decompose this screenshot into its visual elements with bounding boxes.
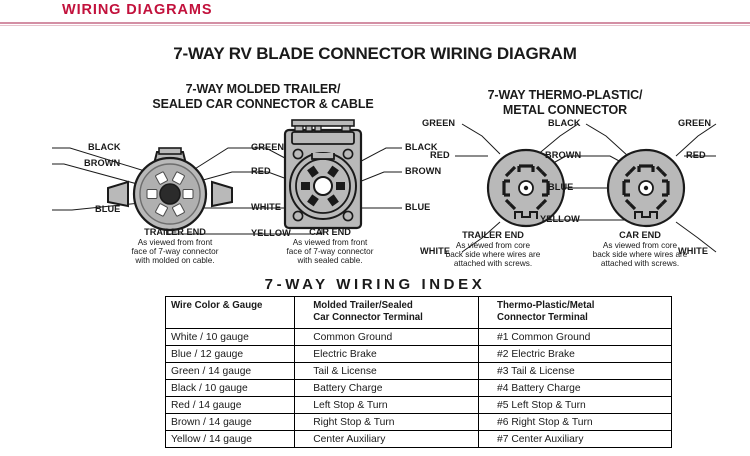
page-title: 7-WAY RV BLADE CONNECTOR WIRING DIAGRAM <box>0 44 750 64</box>
caption-sealed-car-title: CAR END <box>265 228 395 237</box>
label-tp-trailer-brown: BROWN <box>545 150 581 160</box>
caption-molded-trailer-line3: with molded on cable. <box>135 256 214 265</box>
caption-tp-car-title: CAR END <box>565 231 715 240</box>
table-row: Red / 14 gauge Left Stop & Turn #5 Left … <box>166 397 672 414</box>
cell-thermo: #3 Tail & License <box>479 363 672 380</box>
cell-molded: Right Stop & Turn <box>295 414 479 431</box>
index-title: 7-WAY WIRING INDEX <box>0 276 750 293</box>
section-title-molded-line1: 7-WAY MOLDED TRAILER/ <box>186 82 341 96</box>
caption-tp-trailer-end: TRAILER END As viewed from core back sid… <box>418 231 568 268</box>
caption-tp-trailer-title: TRAILER END <box>418 231 568 240</box>
cell-molded: Electric Brake <box>295 346 479 363</box>
section-title-molded-line2: SEALED CAR CONNECTOR & CABLE <box>152 97 373 111</box>
section-title-thermoplastic-line1: 7-WAY THERMO-PLASTIC/ <box>488 88 643 102</box>
cell-thermo: #4 Battery Charge <box>479 380 672 397</box>
cell-wire: Brown / 14 gauge <box>166 414 295 431</box>
caption-sealed-car-line1: As viewed from front <box>293 238 368 247</box>
cell-molded: Common Ground <box>295 329 479 346</box>
caption-sealed-car-end: CAR END As viewed from front face of 7-w… <box>265 228 395 265</box>
caption-sealed-car-line2: face of 7-way connector <box>287 247 374 256</box>
wiring-diagram-page: WIRING DIAGRAMS 7-WAY RV BLADE CONNECTOR… <box>0 0 750 456</box>
label-molded-trailer-black: BLACK <box>88 142 121 152</box>
column-header-wire-color: Wire Color & Gauge <box>166 297 295 329</box>
table-header-row: Wire Color & Gauge Molded Trailer/Sealed… <box>166 297 672 329</box>
caption-tp-car-line2: back side where wires are <box>593 250 688 259</box>
label-tp-trailer-yellow: YELLOW <box>540 214 580 224</box>
table-row: Blue / 12 gauge Electric Brake #2 Electr… <box>166 346 672 363</box>
cell-wire: Blue / 12 gauge <box>166 346 295 363</box>
label-sealed-car-blue: BLUE <box>405 202 430 212</box>
cell-thermo: #7 Center Auxiliary <box>479 431 672 448</box>
table-row: White / 10 gauge Common Ground #1 Common… <box>166 329 672 346</box>
caption-molded-trailer-line1: As viewed from front <box>138 238 213 247</box>
cell-molded: Center Auxiliary <box>295 431 479 448</box>
label-molded-trailer-blue: BLUE <box>95 204 120 214</box>
cell-wire: White / 10 gauge <box>166 329 295 346</box>
label-molded-trailer-red: RED <box>251 166 271 176</box>
wiring-index-table: Wire Color & Gauge Molded Trailer/Sealed… <box>165 296 672 448</box>
label-tp-trailer-red: RED <box>430 150 450 160</box>
label-tp-car-red: RED <box>686 150 706 160</box>
cell-molded: Tail & License <box>295 363 479 380</box>
label-tp-trailer-black: BLACK <box>548 118 581 128</box>
table-row: Green / 14 gauge Tail & License #3 Tail … <box>166 363 672 380</box>
cell-thermo: #6 Right Stop & Turn <box>479 414 672 431</box>
caption-tp-car-line1: As viewed from core <box>603 241 677 250</box>
column-header-molded: Molded Trailer/Sealed Car Connector Term… <box>295 297 479 329</box>
header-title: WIRING DIAGRAMS <box>62 2 212 18</box>
caption-tp-trailer-line2: back side where wires are <box>446 250 541 259</box>
cell-thermo: #5 Left Stop & Turn <box>479 397 672 414</box>
table-row: Black / 10 gauge Battery Charge #4 Batte… <box>166 380 672 397</box>
label-sealed-car-brown: BROWN <box>405 166 441 176</box>
table-row: Yellow / 14 gauge Center Auxiliary #7 Ce… <box>166 431 672 448</box>
label-tp-trailer-green: GREEN <box>422 118 455 128</box>
label-molded-trailer-green: GREEN <box>251 142 284 152</box>
table-row: Brown / 14 gauge Right Stop & Turn #6 Ri… <box>166 414 672 431</box>
table-body: White / 10 gauge Common Ground #1 Common… <box>166 329 672 448</box>
caption-molded-trailer-line2: face of 7-way connector <box>132 247 219 256</box>
cell-molded: Left Stop & Turn <box>295 397 479 414</box>
page-header: WIRING DIAGRAMS <box>0 0 750 26</box>
caption-tp-car-line3: attached with screws. <box>601 259 679 268</box>
cell-thermo: #1 Common Ground <box>479 329 672 346</box>
cell-wire: Green / 14 gauge <box>166 363 295 380</box>
header-rule-secondary <box>0 25 750 26</box>
label-molded-trailer-brown: BROWN <box>84 158 120 168</box>
cell-thermo: #2 Electric Brake <box>479 346 672 363</box>
cell-wire: Black / 10 gauge <box>166 380 295 397</box>
caption-molded-trailer-end: TRAILER END As viewed from front face of… <box>110 228 240 265</box>
caption-sealed-car-line3: with sealed cable. <box>297 256 362 265</box>
cell-molded: Battery Charge <box>295 380 479 397</box>
caption-tp-trailer-line3: attached with screws. <box>454 259 532 268</box>
cell-wire: Red / 14 gauge <box>166 397 295 414</box>
caption-tp-trailer-line1: As viewed from core <box>456 241 530 250</box>
label-tp-trailer-blue: BLUE <box>548 182 573 192</box>
column-header-thermoplastic: Thermo-Plastic/Metal Connector Terminal <box>479 297 672 329</box>
label-molded-trailer-white: WHITE <box>251 202 281 212</box>
caption-molded-trailer-title: TRAILER END <box>110 228 240 237</box>
caption-tp-car-end: CAR END As viewed from core back side wh… <box>565 231 715 268</box>
cell-wire: Yellow / 14 gauge <box>166 431 295 448</box>
label-tp-car-green: GREEN <box>678 118 711 128</box>
section-title-molded: 7-WAY MOLDED TRAILER/ SEALED CAR CONNECT… <box>118 82 408 111</box>
